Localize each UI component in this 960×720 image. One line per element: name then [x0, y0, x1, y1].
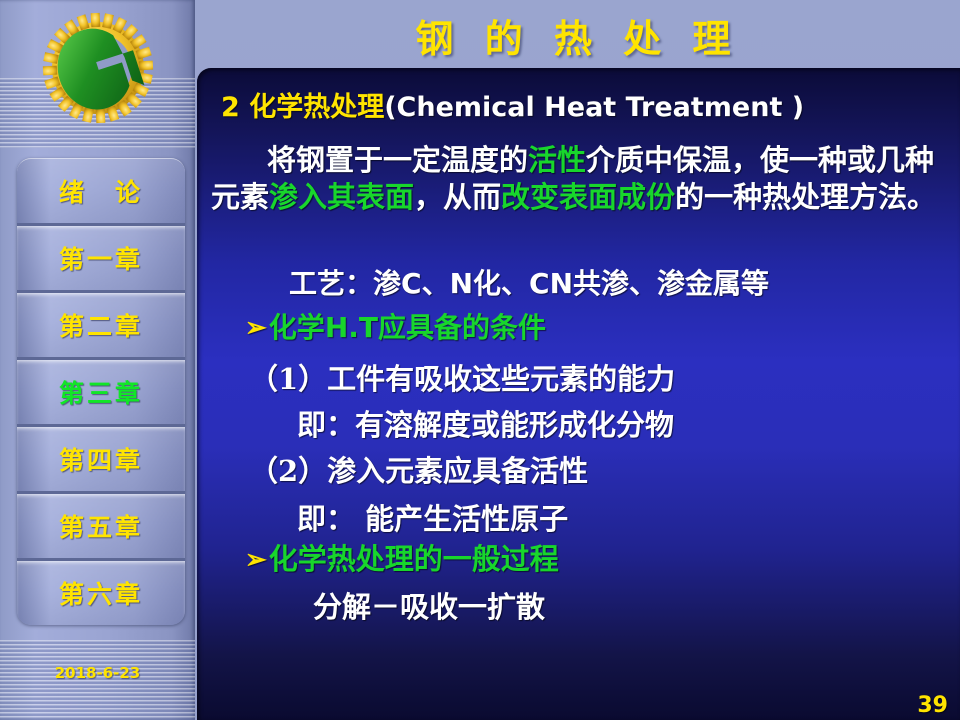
- section-heading-en: (Chemical Heat Treatment ): [384, 92, 804, 123]
- condition-item-2-sub: 即： 能产生活性原子: [297, 496, 568, 538]
- condition-item-2: （2）渗入元素应具备活性: [249, 448, 588, 490]
- sidebar-item-label: 第三章: [59, 374, 143, 410]
- sidebar-item-chapter-2[interactable]: 第二章: [17, 290, 185, 357]
- conditions-pre: 化学: [269, 311, 325, 344]
- paragraph-seg-1: 将钢置于一定温度的: [267, 143, 528, 177]
- paragraph-highlight-penetrate: 渗入其表面: [269, 180, 414, 214]
- process-heading-label: 化学热处理的一般过程: [269, 542, 559, 576]
- paragraph-highlight-active: 活性: [528, 143, 586, 177]
- sidebar-item-label: 第六章: [59, 575, 143, 611]
- craft-sep-1: 、: [422, 267, 450, 300]
- sidebar-item-label: 第四章: [59, 441, 143, 477]
- paragraph-seg-5: ，从而: [414, 180, 501, 214]
- craft-prefix: 工艺：渗: [289, 267, 401, 300]
- craft-element-c: C: [401, 267, 422, 300]
- condition-item-1: （1）工件有吸收这些元素的能力: [249, 356, 675, 398]
- sidebar-item-label: 绪 论: [59, 173, 143, 209]
- section-number: 2: [221, 92, 240, 123]
- section-heading-cn: 化学热处理: [249, 92, 384, 123]
- conditions-heading: ➢化学H.T应具备的条件: [245, 306, 546, 346]
- paragraph-seg-7: 的一种热处理方法。: [675, 180, 936, 214]
- craft-element-cn: CN: [529, 267, 573, 300]
- chapter-nav-panel: 绪 论 第一章 第二章 第三章 第四章 第五章 第六章: [17, 158, 185, 625]
- sidebar-item-chapter-5[interactable]: 第五章: [17, 491, 185, 558]
- sidebar-item-intro[interactable]: 绪 论: [17, 159, 185, 223]
- sidebar-item-label: 第二章: [59, 307, 143, 343]
- paragraph-highlight-surface: 改变表面成份: [501, 180, 675, 214]
- arrow-bullet-icon: ➢: [245, 545, 267, 575]
- page-title: 钢 的 热 处 理: [195, 8, 960, 63]
- conditions-post: 应具备的条件: [378, 311, 546, 344]
- definition-paragraph: 将钢置于一定温度的活性介质中保温，使一种或几种元素渗入其表面，从而改变表面成份的…: [211, 142, 946, 216]
- craft-sep-2: 化、: [473, 267, 529, 300]
- sidebar-item-label: 第五章: [59, 508, 143, 544]
- slide-root: 绪 论 第一章 第二章 第三章 第四章 第五章 第六章 2018-6-23 钢 …: [0, 0, 960, 720]
- craft-suffix: 共渗、渗金属等: [573, 267, 769, 300]
- process-heading: ➢化学热处理的一般过程: [245, 536, 559, 578]
- condition-item-1-sub: 即：有溶解度或能形成化分物: [297, 402, 674, 444]
- date-label: 2018-6-23: [0, 664, 195, 682]
- green-G-gear-logo-icon: [28, 6, 168, 131]
- section-heading: 2 化学热处理(Chemical Heat Treatment ): [221, 85, 804, 124]
- arrow-bullet-icon: ➢: [245, 313, 267, 343]
- page-number: 39: [917, 693, 948, 718]
- sidebar-item-chapter-4[interactable]: 第四章: [17, 424, 185, 491]
- sidebar: 绪 论 第一章 第二章 第三章 第四章 第五章 第六章 2018-6-23: [0, 0, 195, 720]
- conditions-ht: H.T: [325, 311, 378, 344]
- process-steps: 分解－吸收一扩散: [313, 584, 545, 626]
- sidebar-item-chapter-6[interactable]: 第六章: [17, 558, 185, 625]
- sidebar-item-chapter-1[interactable]: 第一章: [17, 223, 185, 290]
- sidebar-item-chapter-3[interactable]: 第三章: [17, 357, 185, 424]
- craft-element-n: N: [450, 267, 473, 300]
- content-panel: 2 化学热处理(Chemical Heat Treatment ) 将钢置于一定…: [197, 68, 960, 720]
- sidebar-item-label: 第一章: [59, 240, 143, 276]
- craft-line: 工艺：渗C、N化、CN共渗、渗金属等: [289, 262, 769, 302]
